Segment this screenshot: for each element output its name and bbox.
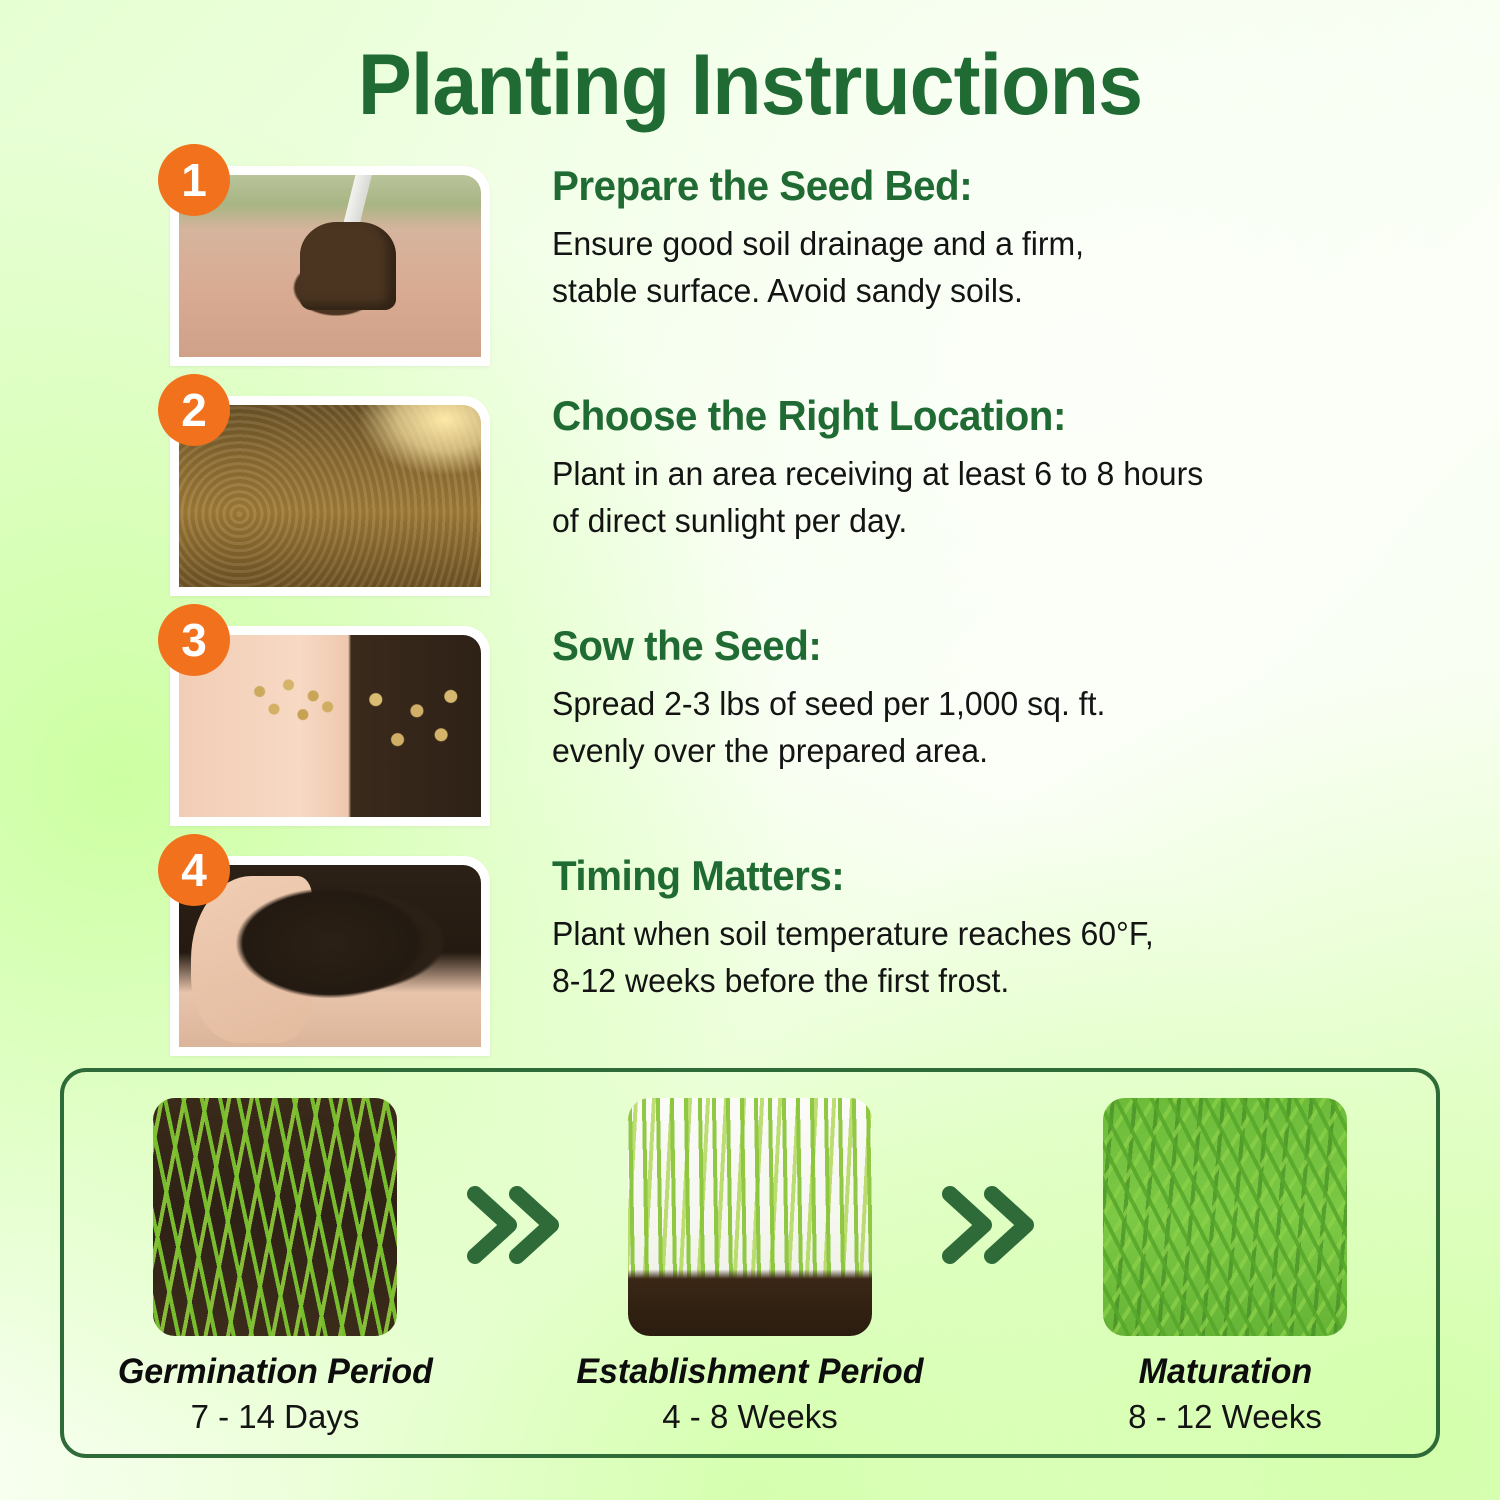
step-number-badge-2: 2 [158, 374, 230, 446]
steps-list: 1 Prepare the Seed Bed: Ensure good soil… [0, 154, 1500, 1074]
step-number-badge-3: 3 [158, 604, 230, 676]
timeline-stage-establishment: Establishment Period 4 - 8 Weeks [585, 1098, 915, 1436]
double-chevron-right-icon-2 [933, 1098, 1043, 1270]
step-body-line-2b: of direct sunlight per day. [552, 498, 1413, 545]
step-item-3: 3 Sow the Seed: Spread 2-3 lbs of seed p… [170, 614, 1440, 844]
young-grass-photo [628, 1098, 872, 1336]
step-body-line-1b: stable surface. Avoid sandy soils. [552, 268, 1413, 315]
timeline-stage-duration-2: 4 - 8 Weeks [662, 1398, 837, 1436]
step-body-4: Plant when soil temperature reaches 60°F… [552, 911, 1413, 1005]
page-title: Planting Instructions [45, 0, 1455, 128]
step-text-2: Choose the Right Location: Plant in an a… [510, 384, 1440, 545]
step-thumbnail-2: 2 [170, 384, 510, 596]
step-body-1: Ensure good soil drainage and a firm, st… [552, 221, 1413, 315]
hands-holding-soil-photo [179, 865, 481, 1047]
step-thumbnail-1: 1 [170, 154, 510, 366]
mature-lawn-photo [1103, 1098, 1347, 1336]
step-item-1: 1 Prepare the Seed Bed: Ensure good soil… [170, 154, 1440, 384]
timeline-stage-label-3: Maturation [1138, 1352, 1312, 1392]
timeline-stage-germination: Germination Period 7 - 14 Days [110, 1098, 440, 1436]
step-body-line-4b: 8-12 weeks before the first frost. [552, 958, 1413, 1005]
step-heading-2: Choose the Right Location: [552, 392, 1404, 439]
step-thumbnail-4: 4 [170, 844, 510, 1056]
germinating-sprouts-photo [153, 1098, 397, 1336]
timeline-stage-duration-1: 7 - 14 Days [191, 1398, 360, 1436]
step-heading-4: Timing Matters: [552, 852, 1404, 899]
step-heading-1: Prepare the Seed Bed: [552, 162, 1404, 209]
step-item-2: 2 Choose the Right Location: Plant in an… [170, 384, 1440, 614]
step-heading-3: Sow the Seed: [552, 622, 1404, 669]
step-body-line-1a: Ensure good soil drainage and a firm, [552, 221, 1413, 268]
double-chevron-right-icon [458, 1098, 568, 1270]
step-body-line-4a: Plant when soil temperature reaches 60°F… [552, 911, 1413, 958]
hand-holding-seeds-photo [179, 635, 481, 817]
growth-timeline-panel: Germination Period 7 - 14 Days Establish… [60, 1068, 1440, 1458]
step-thumbnail-3: 3 [170, 614, 510, 826]
step-number-badge-1: 1 [158, 144, 230, 216]
timeline-stage-label-1: Germination Period [117, 1352, 432, 1392]
step-body-2: Plant in an area receiving at least 6 to… [552, 451, 1413, 545]
timeline-stage-duration-3: 8 - 12 Weeks [1128, 1398, 1322, 1436]
hoe-in-soil-photo [179, 175, 481, 357]
step-text-1: Prepare the Seed Bed: Ensure good soil d… [510, 154, 1440, 315]
timeline-stage-maturation: Maturation 8 - 12 Weeks [1060, 1098, 1390, 1436]
step-body-line-3b: evenly over the prepared area. [552, 728, 1413, 775]
step-body-line-3a: Spread 2-3 lbs of seed per 1,000 sq. ft. [552, 681, 1413, 728]
sunlit-soil-photo [179, 405, 481, 587]
step-number-badge-4: 4 [158, 834, 230, 906]
step-text-3: Sow the Seed: Spread 2-3 lbs of seed per… [510, 614, 1440, 775]
step-body-3: Spread 2-3 lbs of seed per 1,000 sq. ft.… [552, 681, 1413, 775]
step-text-4: Timing Matters: Plant when soil temperat… [510, 844, 1440, 1005]
step-body-line-2a: Plant in an area receiving at least 6 to… [552, 451, 1413, 498]
timeline-stage-label-2: Establishment Period [576, 1352, 923, 1392]
step-item-4: 4 Timing Matters: Plant when soil temper… [170, 844, 1440, 1074]
